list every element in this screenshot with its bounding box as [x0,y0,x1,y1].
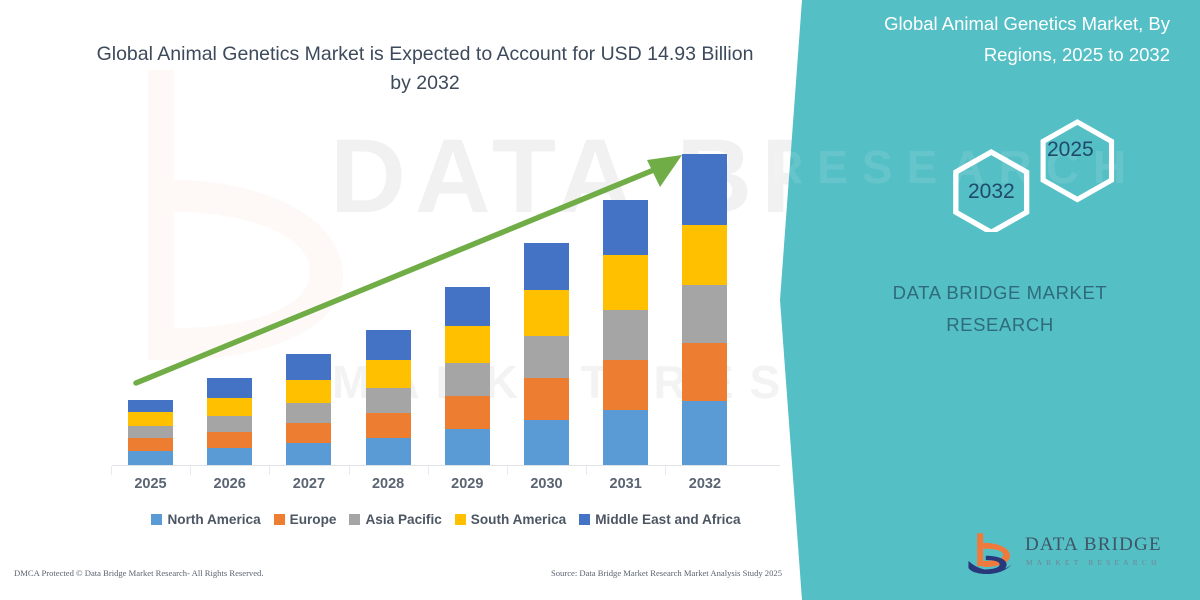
bar-segment-2028-south-america [366,360,411,388]
panel-title: Global Animal Genetics Market, By Region… [830,8,1170,70]
x-axis-tick-2026 [190,466,191,475]
bar-2028[interactable] [366,330,411,465]
legend-label: Asia Pacific [365,512,441,527]
legend-item-north-america[interactable]: North America [151,512,260,527]
hexagon-label-2032: 2032 [968,180,1015,204]
bar-segment-2031-south-america [603,255,648,310]
bar-segment-2025-europe [128,438,173,451]
bar-2030[interactable] [524,243,569,465]
x-axis-tick-2025 [111,466,112,475]
bar-segment-2032-middle-east-and-africa [682,154,727,225]
bar-segment-2027-north-america [286,443,331,465]
x-axis-tick-2031 [586,466,587,475]
x-axis-tick-2029 [428,466,429,475]
panel-brand-text: DATA BRIDGE MARKET RESEARCH [840,277,1160,341]
x-axis-tick-2028 [349,466,350,475]
bar-segment-2025-north-america [128,451,173,465]
bar-segment-2026-europe [207,432,252,448]
bar-segment-2030-asia-pacific [524,336,569,378]
bar-segment-2028-north-america [366,438,411,465]
bar-segment-2026-asia-pacific [207,416,252,432]
bar-segment-2029-middle-east-and-africa [445,287,490,326]
bar-segment-2026-south-america [207,398,252,416]
bar-segment-2031-middle-east-and-africa [603,200,648,255]
x-axis-label-2027: 2027 [269,476,349,492]
legend-label: Middle East and Africa [595,512,740,527]
legend-swatch-icon [349,514,360,525]
footer-copyright: DMCA Protected © Data Bridge Market Rese… [14,568,264,578]
bar-segment-2029-south-america [445,326,490,363]
panel-brand-line1: DATA BRIDGE MARKET [893,282,1108,303]
legend-swatch-icon [579,514,590,525]
bar-segment-2029-asia-pacific [445,363,490,396]
chart-legend: North AmericaEuropeAsia PacificSouth Ame… [112,512,780,527]
x-axis-label-2029: 2029 [427,476,507,492]
bar-segment-2027-middle-east-and-africa [286,354,331,380]
bar-2029[interactable] [445,287,490,465]
legend-label: South America [471,512,566,527]
bar-2027[interactable] [286,354,331,465]
footer-source: Source: Data Bridge Market Research Mark… [551,568,782,578]
x-axis-label-2032: 2032 [665,476,745,492]
panel-brand-line2: RESEARCH [946,314,1054,335]
bar-segment-2027-asia-pacific [286,403,331,423]
bar-2031[interactable] [603,200,648,465]
bar-segment-2032-europe [682,343,727,401]
legend-item-asia-pacific[interactable]: Asia Pacific [349,512,441,527]
x-axis-label-2031: 2031 [586,476,666,492]
bar-2032[interactable] [682,154,727,465]
bar-segment-2025-south-america [128,412,173,426]
bar-segment-2025-middle-east-and-africa [128,400,173,412]
bar-segment-2030-north-america [524,420,569,465]
legend-label: North America [167,512,260,527]
growth-trend-arrow [0,0,800,600]
hexagon-outlines [925,112,1155,232]
bar-segment-2032-north-america [682,401,727,465]
bar-2026[interactable] [207,378,252,465]
bar-segment-2028-europe [366,413,411,438]
legend-label: Europe [290,512,337,527]
panel-title-line1: Global Animal Genetics Market, By [884,13,1170,34]
chart-baseline [112,465,780,466]
bar-2025[interactable] [128,400,173,465]
x-axis-tick-2027 [269,466,270,475]
hexagon-label-2025: 2025 [1047,138,1094,162]
x-axis-tick-2032 [665,466,666,475]
bar-segment-2032-asia-pacific [682,285,727,343]
logo-mark-icon [965,530,1017,578]
bar-segment-2026-middle-east-and-africa [207,378,252,398]
bar-segment-2031-europe [603,360,648,410]
x-axis-tick-2030 [507,466,508,475]
logo-wordmark: DATA BRIDGE [1025,534,1162,556]
bar-segment-2026-north-america [207,448,252,465]
panel-title-line2: Regions, 2025 to 2032 [984,44,1170,65]
hexagon-badges: 2032 2025 [925,112,1155,232]
x-axis-label-2026: 2026 [190,476,270,492]
legend-item-south-america[interactable]: South America [455,512,566,527]
bar-segment-2025-asia-pacific [128,426,173,438]
legend-item-europe[interactable]: Europe [274,512,337,527]
legend-swatch-icon [274,514,285,525]
legend-swatch-icon [455,514,466,525]
bar-segment-2031-asia-pacific [603,310,648,360]
bar-segment-2031-north-america [603,410,648,465]
bar-segment-2030-middle-east-and-africa [524,243,569,290]
bar-segment-2029-europe [445,396,490,429]
bar-segment-2029-north-america [445,429,490,465]
x-axis-label-2028: 2028 [348,476,428,492]
legend-item-middle-east-and-africa[interactable]: Middle East and Africa [579,512,740,527]
bar-segment-2028-middle-east-and-africa [366,330,411,360]
bar-segment-2027-south-america [286,380,331,403]
logo-tagline: MARKET RESEARCH [1026,558,1161,567]
right-panel: Global Animal Genetics Market, By Region… [780,0,1200,600]
bar-segment-2030-europe [524,378,569,420]
data-bridge-logo: DATA BRIDGE MARKET RESEARCH [965,528,1180,586]
chart-plot-area: 20252026202720282029203020312032 [0,0,800,600]
footer: DMCA Protected © Data Bridge Market Rese… [0,568,800,578]
infographic-canvas: DATA BRIDGE MARKET RESEARCH Global Anima… [0,0,1200,600]
x-axis-label-2025: 2025 [111,476,191,492]
bar-segment-2030-south-america [524,290,569,336]
bar-segment-2027-europe [286,423,331,443]
bar-segment-2028-asia-pacific [366,388,411,413]
legend-swatch-icon [151,514,162,525]
x-axis-label-2030: 2030 [507,476,587,492]
bar-segment-2032-south-america [682,225,727,285]
